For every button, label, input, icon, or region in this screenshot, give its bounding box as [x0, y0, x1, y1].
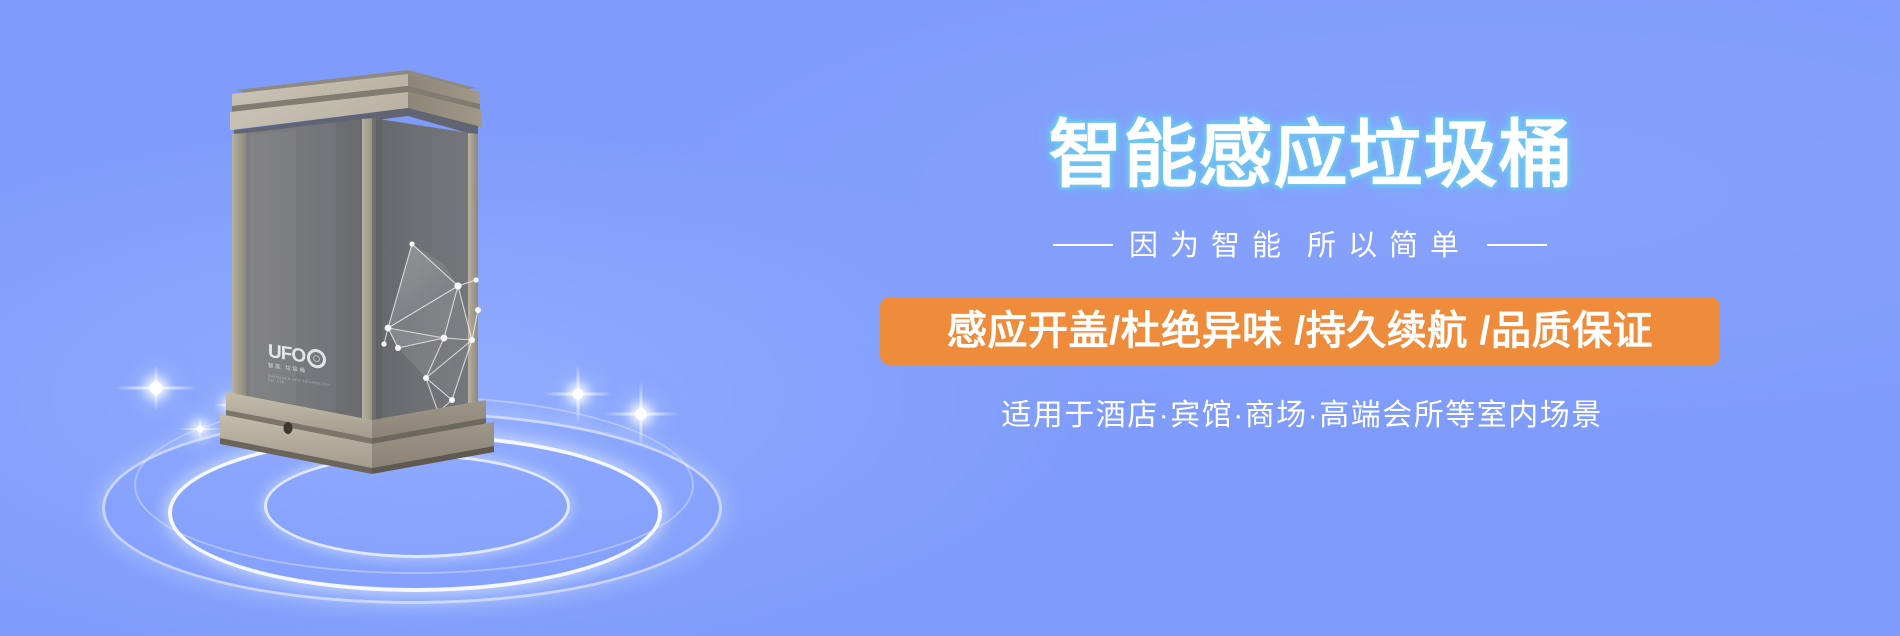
- banner-title: 智能感应垃圾桶: [880, 118, 1720, 192]
- usage-scenario-text: 适用于酒店·宾馆·商场·高端会所等室内场景: [880, 401, 1720, 431]
- product-image: UFO 智能 垃圾桶 SHENZHEN UFO TECHNOLOGY CO.,L…: [96, 48, 736, 588]
- product-promo-banner: UFO 智能 垃圾桶 SHENZHEN UFO TECHNOLOGY CO.,L…: [0, 0, 1900, 636]
- subtitle-dash-left: [1053, 244, 1113, 246]
- feature-highlight-bar: 感应开盖/杜绝异味 /持久续航 /品质保证: [880, 297, 1720, 365]
- subtitle-text-right: 所以简单: [1307, 230, 1471, 262]
- banner-subtitle: 因为智能所以简单: [880, 232, 1720, 261]
- smart-trash-bin: UFO 智能 垃圾桶 SHENZHEN UFO TECHNOLOGY CO.,L…: [216, 48, 506, 448]
- banner-copy: 智能感应垃圾桶 因为智能所以简单 感应开盖/杜绝异味 /持久续航 /品质保证 适…: [880, 118, 1720, 431]
- subtitle-text-left: 因为智能: [1129, 230, 1293, 262]
- subtitle-dash-right: [1487, 244, 1547, 246]
- feature-bar-text: 感应开盖/杜绝异味 /持久续航 /品质保证: [947, 311, 1653, 351]
- trash-bin-illustration: [176, 48, 596, 468]
- light-ring-inner: [264, 454, 570, 558]
